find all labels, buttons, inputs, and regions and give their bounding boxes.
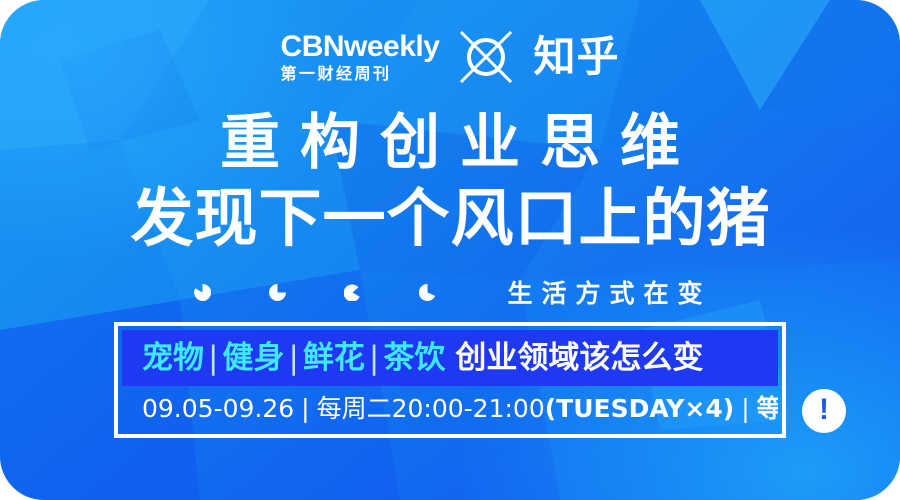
pacman-dot-icon <box>344 284 361 301</box>
schedule-en-text: (TUESDAY×4) <box>545 394 734 423</box>
dot-group <box>188 284 436 301</box>
date-line: 09.05-09.26|每周二20:00-21:00(TUESDAY×4)|等你… <box>142 396 778 421</box>
date-range: 09.05-09.26 <box>142 394 294 423</box>
headline-line-1: 重构创业思维 <box>0 112 900 175</box>
logo-row: CBNweekly 第一财经周刊 知乎 <box>0 28 900 86</box>
schedule-text: 每周二20:00-21:00 <box>317 394 545 423</box>
exclamation-icon[interactable]: ! <box>802 389 846 433</box>
pacman-dot-icon <box>419 284 436 301</box>
cbn-logo: CBNweekly 第一财经周刊 <box>281 32 440 83</box>
category-item-2[interactable]: 鲜花 <box>303 340 365 376</box>
category-tail-text: 创业领域该怎么变 <box>445 340 703 376</box>
cta-text: 等你LIVE <box>757 394 778 423</box>
cbn-logo-cn: 第一财经周刊 <box>281 67 392 83</box>
pacman-dot-icon <box>269 284 286 301</box>
subtitle-text: 生活方式在变 <box>498 274 711 310</box>
category-item-1[interactable]: 健身 <box>222 340 284 376</box>
category-separator: | <box>284 340 302 376</box>
category-separator: | <box>365 340 383 376</box>
cbn-logo-en: CBNweekly <box>281 32 440 62</box>
date-separator-2: | <box>734 394 756 423</box>
exclamation-badge-label: ! <box>819 395 829 425</box>
category-band: 宠物|健身|鲜花|茶饮创业领域该怎么变 <box>122 330 778 386</box>
headline-line-2: 发现下一个风口上的猪 <box>0 186 900 252</box>
info-frame: 宠物|健身|鲜花|茶饮创业领域该怎么变 09.05-09.26|每周二20:00… <box>114 322 786 438</box>
subtitle-row: 生活方式在变 <box>0 272 900 312</box>
category-separator: | <box>204 340 222 376</box>
date-separator-1: | <box>294 394 316 423</box>
category-item-3[interactable]: 茶饮 <box>383 340 445 376</box>
date-band: 09.05-09.26|每周二20:00-21:00(TUESDAY×4)|等你… <box>122 386 778 430</box>
category-line: 宠物|健身|鲜花|茶饮创业领域该怎么变 <box>142 343 703 374</box>
zhihu-logo-cn: 知乎 <box>533 36 619 78</box>
zhihu-circle-x-icon <box>457 28 515 86</box>
pacman-dot-icon <box>194 284 211 301</box>
category-item-0[interactable]: 宠物 <box>142 340 204 376</box>
promo-banner: CBNweekly 第一财经周刊 知乎 重构创业思维 发现下一个风口上的猪 <box>0 0 900 500</box>
